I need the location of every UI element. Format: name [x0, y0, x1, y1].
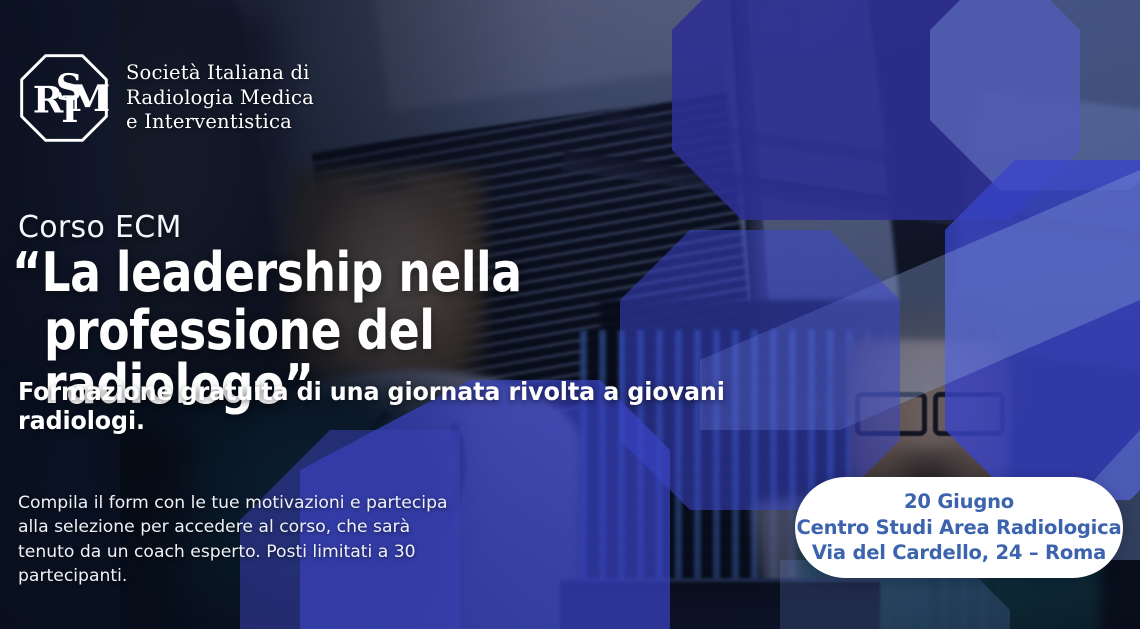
event-banner: R S I M Società Italiana di Radiologia M…	[0, 0, 1140, 629]
banner-content: R S I M Società Italiana di Radiologia M…	[0, 0, 1140, 629]
event-venue: Centro Studi Area Radiologica	[797, 515, 1122, 541]
subtitle: Formazione gratuita di una giornata rivo…	[18, 377, 755, 435]
event-details-pill: 20 Giugno Centro Studi Area Radiologica …	[795, 477, 1123, 578]
brand-name: Società Italiana di Radiologia Medica e …	[126, 61, 314, 136]
brand-lockup: R S I M Società Italiana di Radiologia M…	[18, 52, 314, 144]
event-address: Via del Cardello, 24 – Roma	[812, 540, 1106, 566]
srm-octagon-monogram-icon: R S I M	[18, 52, 110, 144]
svg-text:M: M	[70, 76, 110, 120]
course-kicker: Corso ECM	[18, 210, 182, 245]
title-line-1: “La leadership nella	[12, 246, 708, 300]
body-copy: Compila il form con le tue motivazioni e…	[18, 491, 458, 589]
event-date: 20 Giugno	[904, 489, 1014, 515]
